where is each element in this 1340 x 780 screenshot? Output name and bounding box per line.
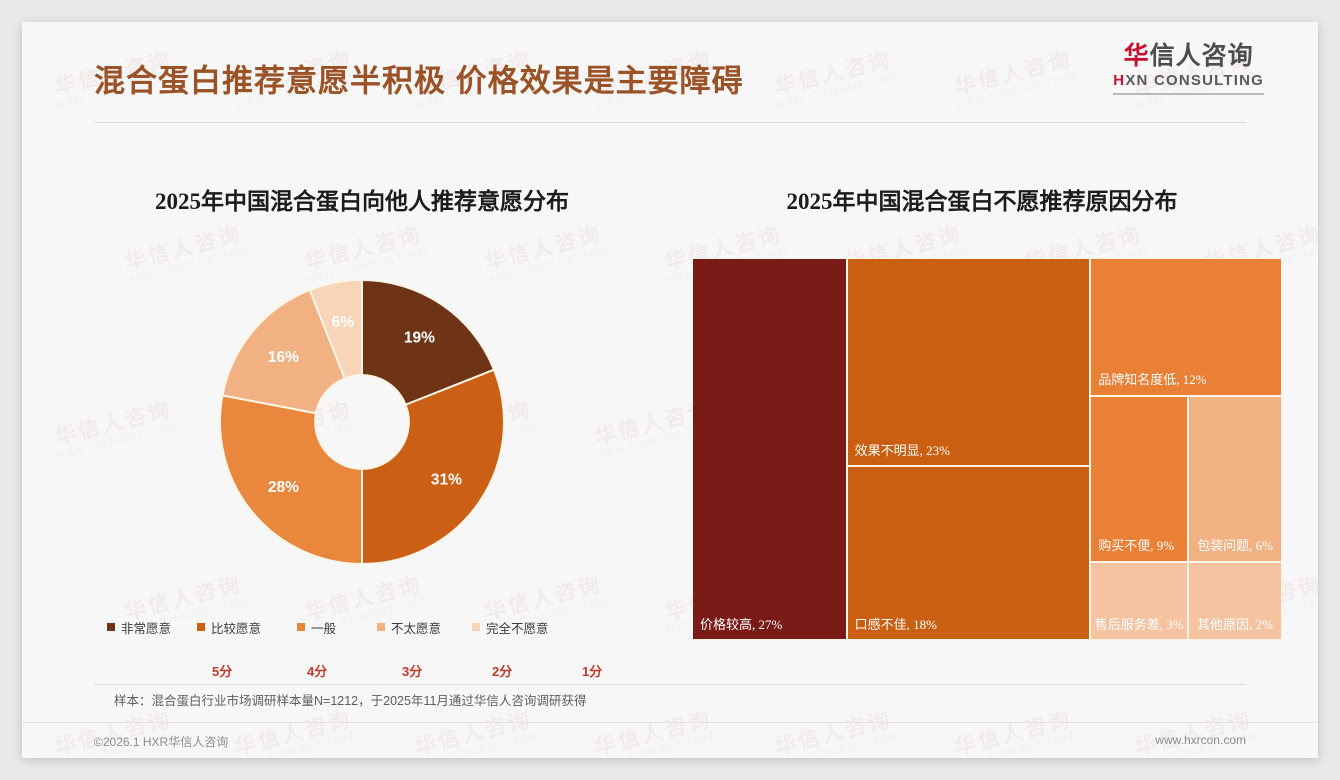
watermark-text: 华信人咨询HXN CONSULTING (230, 707, 361, 758)
treemap-tile[interactable]: 其他原因, 2% (1188, 562, 1282, 640)
donut-slice-label: 19% (404, 330, 435, 347)
legend-swatch-icon (197, 623, 205, 631)
legend-label: 比较愿意 (211, 618, 261, 637)
logo-cn-accent-char: 华 (1124, 42, 1150, 70)
donut-svg: 19%31%28%16%6% (62, 222, 662, 622)
watermark-text: 华信人咨询HXN CONSULTING (770, 707, 901, 758)
legend-swatch-icon (472, 623, 480, 631)
treemap-tile[interactable]: 口感不佳, 18% (847, 466, 1091, 640)
legend-item[interactable]: 比较愿意 (197, 618, 261, 637)
treemap-tile-label: 售后服务差, 3% (1094, 617, 1184, 633)
treemap-tile-label: 效果不明显, 23% (855, 443, 1085, 459)
treemap-tile[interactable]: 品牌知名度低, 12% (1090, 258, 1282, 396)
treemap-tile[interactable]: 效果不明显, 23% (847, 258, 1091, 466)
source-note: 样本：混合蛋白行业市场调研样本量N=1212，于2025年11月通过华信人咨询调… (114, 690, 586, 709)
slide-header: 混合蛋白推荐意愿半积极 价格效果是主要障碍 华信人咨询 HXN CONSULTI… (22, 22, 1318, 128)
legend-item[interactable]: 一般 (297, 618, 336, 637)
legend-swatch-icon (107, 623, 115, 631)
score-label: 2分 (492, 661, 512, 680)
slide: 华信人咨询HXN CONSULTING华信人咨询HXN CONSULTING华信… (22, 22, 1318, 758)
treemap-tile[interactable]: 购买不便, 9% (1090, 396, 1188, 562)
treemap-tile[interactable]: 售后服务差, 3% (1090, 562, 1188, 640)
footnote-divider (94, 684, 1246, 685)
logo-underline (1113, 93, 1264, 95)
treemap-tile[interactable]: 价格较高, 27% (692, 258, 847, 640)
company-logo: 华信人咨询 HXN CONSULTING (1113, 42, 1264, 95)
donut-chart: 19%31%28%16%6% (62, 182, 662, 682)
header-divider (94, 122, 1246, 123)
legend-item[interactable]: 非常愿意 (107, 618, 171, 637)
donut-slice-label: 28% (268, 479, 299, 496)
legend-label: 非常愿意 (121, 618, 171, 637)
slide-canvas: 华信人咨询HXN CONSULTING华信人咨询HXN CONSULTING华信… (0, 0, 1340, 780)
watermark-text: 华信人咨询HXN CONSULTING (590, 707, 721, 758)
right-chart-panel: 2025年中国混合蛋白不愿推荐原因分布 价格较高, 27%效果不明显, 23%口… (682, 182, 1282, 682)
logo-chinese-text: 华信人咨询 (1113, 42, 1264, 71)
logo-english-text: HXN CONSULTING (1113, 71, 1264, 91)
score-label: 4分 (307, 661, 327, 680)
legend-swatch-icon (377, 623, 385, 631)
donut-slice-label: 31% (431, 471, 462, 488)
legend-swatch-icon (297, 623, 305, 631)
score-scale: 5分4分3分2分1分 (72, 660, 652, 680)
watermark-text: 华信人咨询HXN CONSULTING (410, 707, 541, 758)
logo-en-accent-char: H (1113, 72, 1125, 89)
copyright-text: ©2026.1 HXR华信人咨询 (94, 733, 228, 750)
logo-cn-rest: 信人咨询 (1150, 42, 1254, 70)
logo-en-rest: XN CONSULTING (1125, 72, 1264, 89)
right-chart-title: 2025年中国混合蛋白不愿推荐原因分布 (682, 182, 1282, 216)
score-label: 3分 (402, 661, 422, 680)
legend-item[interactable]: 完全不愿意 (472, 618, 549, 637)
page-title: 混合蛋白推荐意愿半积极 价格效果是主要障碍 (94, 56, 744, 101)
treemap-tile-label: 其他原因, 2% (1192, 617, 1278, 633)
left-chart-panel: 2025年中国混合蛋白向他人推荐意愿分布 19%31%28%16%6% 非常愿意… (62, 182, 662, 682)
score-label: 5分 (212, 661, 232, 680)
treemap-chart: 价格较高, 27%效果不明显, 23%口感不佳, 18%品牌知名度低, 12%购… (692, 258, 1282, 640)
donut-slice-label: 6% (332, 314, 355, 331)
legend-label: 不太愿意 (391, 618, 441, 637)
treemap-tile[interactable]: 包装问题, 6% (1188, 396, 1282, 562)
legend-label: 一般 (311, 618, 336, 637)
score-label: 1分 (582, 661, 602, 680)
website-url: www.hxrcon.com (1155, 733, 1246, 747)
watermark-text: 华信人咨询HXN CONSULTING (950, 707, 1081, 758)
footer-divider (22, 722, 1318, 723)
treemap-tile-label: 价格较高, 27% (700, 617, 841, 633)
legend-label: 完全不愿意 (486, 618, 549, 637)
donut-legend: 非常愿意比较愿意一般不太愿意完全不愿意 (72, 617, 652, 637)
treemap-tile-label: 品牌知名度低, 12% (1098, 372, 1276, 388)
treemap-tile-label: 包装问题, 6% (1192, 538, 1278, 554)
donut-slice-label: 16% (268, 349, 299, 366)
donut-slice[interactable] (362, 370, 504, 564)
legend-item[interactable]: 不太愿意 (377, 618, 441, 637)
treemap-tile-label: 口感不佳, 18% (855, 617, 1085, 633)
treemap-tile-label: 购买不便, 9% (1098, 538, 1182, 554)
